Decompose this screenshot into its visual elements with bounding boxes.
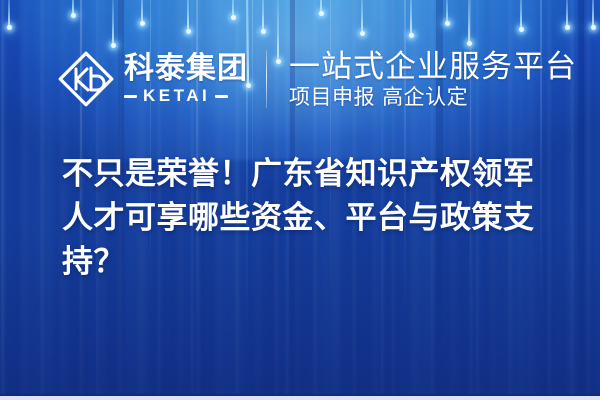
brand-wordmark: 科泰集团 KETAI	[124, 53, 248, 105]
slogan-sub: 项目申报 高企认定	[289, 85, 577, 110]
promo-banner: 科泰集团 KETAI 一站式企业服务平台 项目申报 高企认定 不只是荣誉！广东省…	[0, 0, 600, 400]
brand-name-cn: 科泰集团	[124, 53, 248, 85]
banner-header: 科泰集团 KETAI 一站式企业服务平台 项目申报 高企认定	[0, 44, 600, 114]
slogan-main: 一站式企业服务平台	[289, 49, 577, 85]
brand-name-en-row: KETAI	[124, 87, 248, 105]
bottom-strip	[0, 396, 600, 400]
wordmark-dash-left	[124, 95, 137, 98]
brand-name-en: KETAI	[143, 87, 210, 105]
brand-logo[interactable]: 科泰集团 KETAI	[57, 50, 248, 108]
header-divider	[266, 50, 267, 108]
wordmark-dash-right	[215, 95, 228, 98]
ketai-kd-monogram-logo-icon	[57, 50, 115, 108]
headline: 不只是荣誉！广东省知识产权领军人才可享哪些资金、平台与政策支持？	[62, 152, 562, 284]
slogan-block: 一站式企业服务平台 项目申报 高企认定	[289, 49, 577, 110]
